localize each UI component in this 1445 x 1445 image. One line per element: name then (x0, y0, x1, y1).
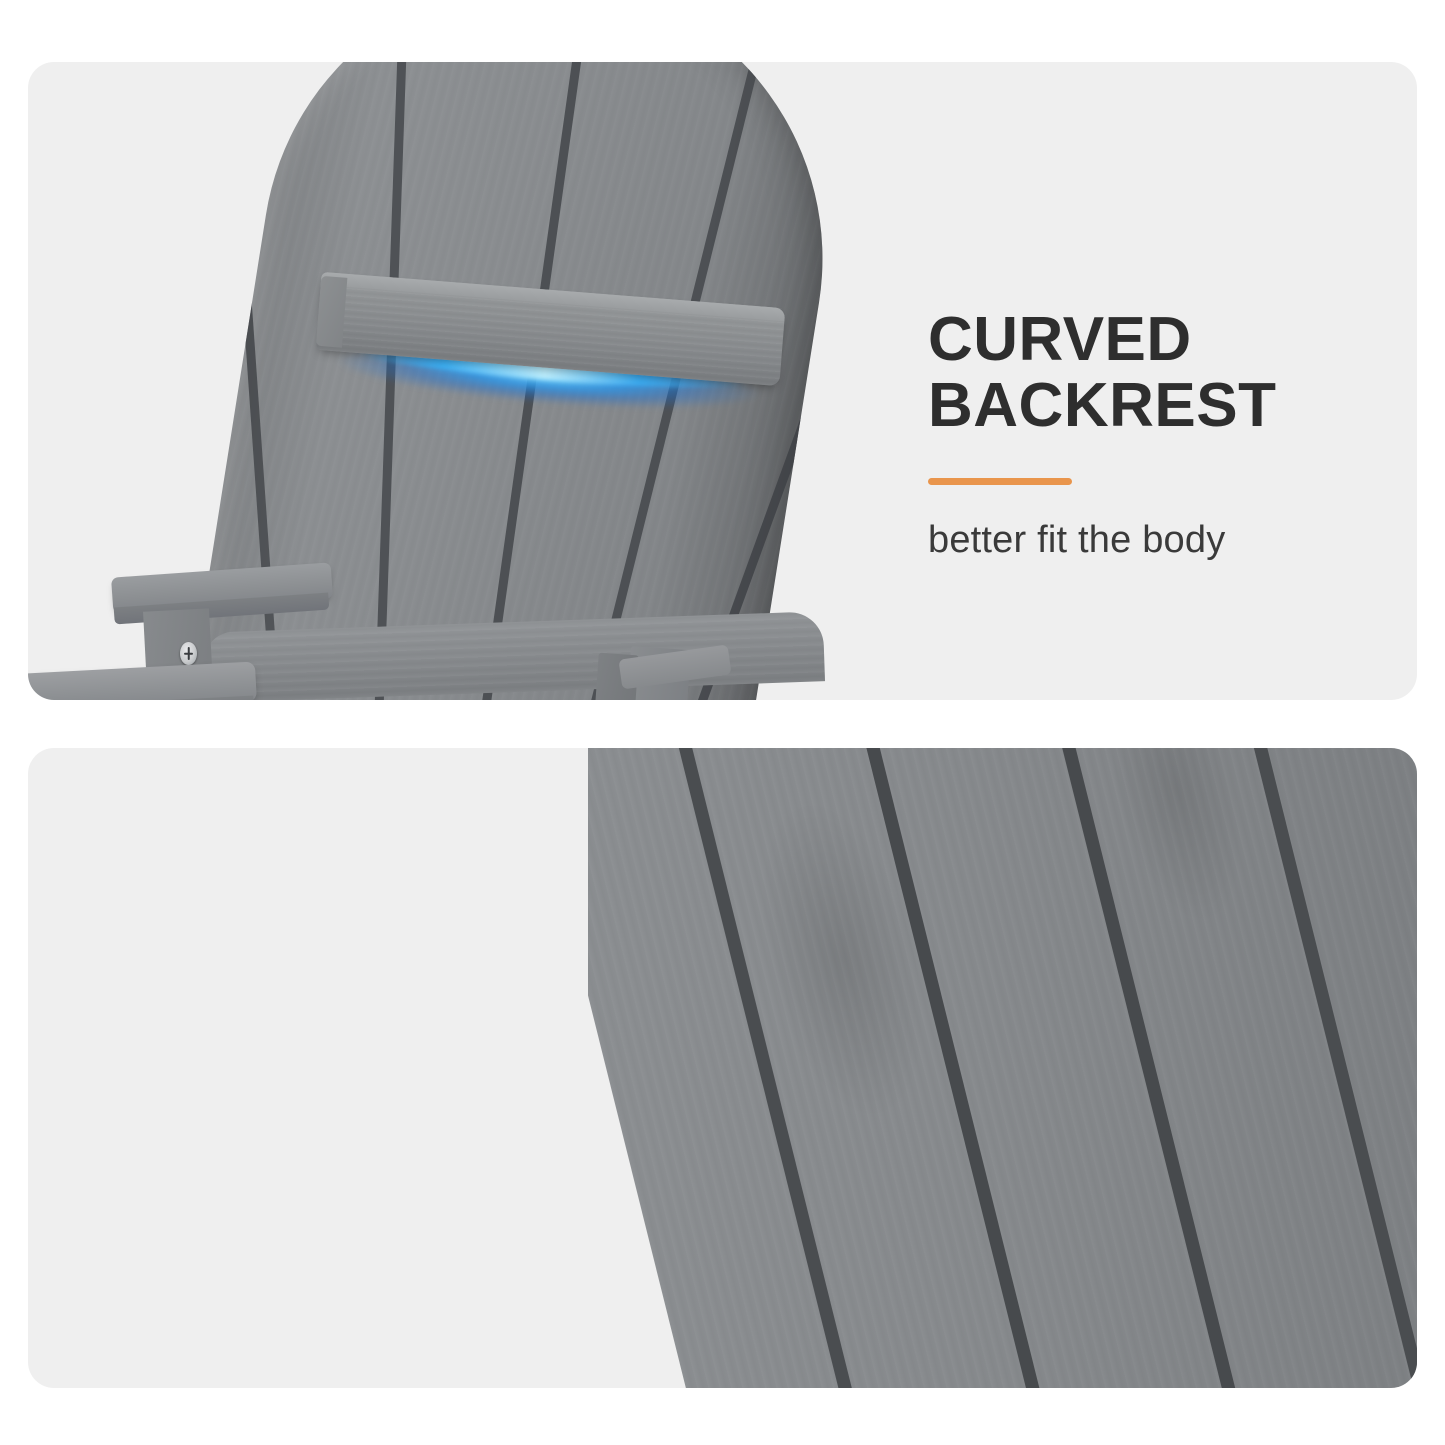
screw (180, 642, 197, 665)
page-subtitle-top: BACKREST (928, 370, 1398, 442)
accent-rule-top (928, 478, 1072, 485)
feature-text-block-top: CURVED BACKREST better fit the body (928, 304, 1398, 562)
page-title-top: CURVED (928, 304, 1398, 376)
feature-panel-curved-backrest: CURVED BACKREST better fit the body (28, 62, 1417, 700)
chair-armrest-photo (28, 748, 1417, 1388)
infographic-page: CURVED BACKREST better fit the body (0, 0, 1445, 1445)
feature-panel-wide-armrests: WIDE ARMRESTS for better arm relaxation (28, 748, 1417, 1388)
feature-caption-top: better fit the body (928, 519, 1398, 562)
